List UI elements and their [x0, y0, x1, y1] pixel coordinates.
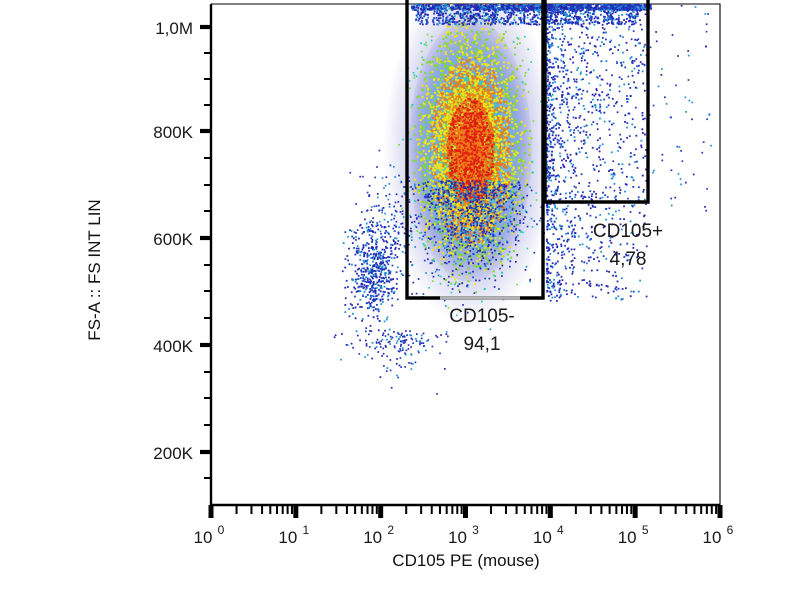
event-dot — [469, 86, 471, 88]
event-dot — [434, 153, 436, 155]
event-dot — [501, 82, 503, 84]
event-dot — [442, 143, 444, 145]
event-dot — [479, 97, 481, 99]
event-dot — [431, 129, 433, 131]
event-dot — [501, 41, 503, 43]
event-dot — [456, 150, 458, 152]
event-dot — [429, 161, 431, 163]
event-dot — [521, 133, 523, 135]
event-dot — [438, 91, 440, 93]
event-dot — [428, 136, 430, 138]
event-dot — [434, 110, 436, 112]
event-dot — [477, 85, 479, 87]
event-dot — [410, 106, 412, 108]
event-dot — [510, 179, 512, 181]
event-dot — [465, 50, 467, 52]
event-dot — [481, 57, 483, 59]
event-dot — [444, 166, 446, 168]
event-dot — [484, 219, 486, 221]
event-dot — [474, 283, 476, 285]
event-dot — [498, 61, 500, 63]
event-dot — [432, 189, 434, 191]
event-dot — [516, 174, 518, 176]
event-dot — [452, 93, 454, 95]
event-dot — [435, 145, 437, 147]
event-dot — [491, 185, 493, 187]
event-dot — [433, 151, 435, 153]
event-dot — [465, 101, 467, 103]
event-dot — [499, 93, 501, 95]
event-dot — [442, 70, 444, 72]
event-dot — [449, 147, 451, 149]
event-dot — [439, 175, 441, 177]
event-dot — [499, 178, 501, 180]
event-dot — [511, 118, 513, 120]
event-dot — [491, 139, 493, 141]
event-dot — [444, 141, 446, 143]
event-dot — [432, 167, 434, 169]
event-dot — [504, 93, 506, 95]
event-dot — [464, 244, 466, 246]
event-dot — [445, 136, 447, 138]
event-dot — [455, 76, 457, 78]
event-dot — [437, 94, 439, 96]
event-dot — [509, 115, 511, 117]
event-dot — [449, 134, 451, 136]
event-dot — [486, 110, 488, 112]
event-dot — [465, 112, 467, 114]
event-dot — [483, 270, 485, 272]
event-dot — [465, 108, 467, 110]
event-dot — [419, 138, 421, 140]
event-dot — [505, 199, 507, 201]
event-dot — [431, 136, 433, 138]
event-dot — [464, 220, 466, 222]
event-dot — [495, 230, 497, 232]
event-dot — [499, 34, 501, 36]
event-dot — [457, 224, 459, 226]
event-dot — [493, 89, 495, 91]
event-dot — [402, 139, 404, 141]
event-dot — [458, 269, 460, 271]
event-dot — [447, 240, 449, 242]
event-dot — [454, 156, 456, 158]
event-dot — [433, 112, 435, 114]
event-dot — [500, 211, 502, 213]
event-dot — [490, 159, 492, 161]
event-dot — [461, 110, 463, 112]
event-dot — [448, 125, 450, 127]
event-dot — [432, 280, 434, 282]
event-dot — [440, 149, 442, 151]
event-dot — [446, 44, 448, 46]
event-dot — [493, 59, 495, 61]
event-dot — [438, 105, 440, 107]
event-dot — [524, 152, 526, 154]
event-dot — [476, 131, 478, 133]
event-dot — [463, 204, 465, 206]
event-dot — [515, 171, 517, 173]
event-dot — [458, 57, 460, 59]
event-dot — [516, 100, 518, 102]
event-dot — [518, 123, 520, 125]
event-dot — [491, 156, 493, 158]
event-dot — [487, 235, 489, 237]
event-dot — [421, 64, 423, 66]
event-dot — [427, 158, 429, 160]
event-dot — [528, 91, 530, 93]
event-dot — [427, 223, 429, 225]
event-dot — [460, 249, 462, 251]
event-dot — [499, 169, 501, 171]
event-dot — [452, 95, 454, 97]
event-dot — [509, 106, 511, 108]
event-dot — [469, 109, 471, 111]
event-dot — [449, 79, 451, 81]
event-dot — [470, 118, 472, 120]
event-dot — [455, 74, 457, 76]
event-dot — [467, 25, 469, 27]
event-dot — [451, 146, 453, 148]
event-dot — [424, 245, 426, 247]
event-dot — [478, 117, 480, 119]
event-dot — [443, 101, 445, 103]
event-dot — [438, 116, 440, 118]
event-dot — [524, 75, 526, 77]
event-dot — [490, 122, 492, 124]
event-dot — [503, 33, 505, 35]
event-dot — [423, 159, 425, 161]
event-dot — [452, 86, 454, 88]
event-dot — [477, 73, 479, 75]
event-dot — [517, 141, 519, 143]
event-dot — [459, 256, 461, 258]
event-dot — [489, 149, 491, 151]
event-dot — [483, 146, 485, 148]
event-dot — [507, 161, 509, 163]
event-dot — [414, 178, 416, 180]
event-dot — [434, 85, 436, 87]
event-dot — [508, 91, 510, 93]
event-dot — [491, 145, 493, 147]
event-dot — [461, 136, 463, 138]
event-dot — [441, 108, 443, 110]
event-dot — [427, 187, 429, 189]
event-dot — [454, 278, 456, 280]
event-dot — [429, 165, 431, 167]
event-dot — [428, 203, 430, 205]
event-dot — [454, 283, 456, 285]
event-dot — [448, 104, 450, 106]
event-dot — [461, 51, 463, 53]
event-dot — [510, 162, 512, 164]
event-dot — [443, 126, 445, 128]
event-dot — [455, 235, 457, 237]
event-dot — [468, 57, 470, 59]
event-dot — [452, 208, 454, 210]
event-dot — [455, 281, 457, 283]
event-dot — [493, 85, 495, 87]
event-dot — [513, 166, 515, 168]
event-dot — [418, 182, 420, 184]
event-dot — [452, 171, 454, 173]
event-dot — [516, 125, 518, 127]
event-dot — [424, 167, 426, 169]
event-dot — [503, 154, 505, 156]
event-dot — [429, 223, 431, 225]
event-dot — [445, 53, 447, 55]
event-dot — [442, 35, 444, 37]
event-dot — [425, 85, 427, 87]
event-dot — [488, 95, 490, 97]
event-dot — [460, 107, 462, 109]
event-dot — [461, 58, 463, 60]
event-dot — [498, 136, 500, 138]
event-dot — [427, 34, 429, 36]
event-dot — [503, 61, 505, 63]
event-dot — [437, 119, 439, 121]
event-dot — [443, 185, 445, 187]
event-dot — [424, 174, 426, 176]
event-dot — [467, 223, 469, 225]
event-dot — [510, 126, 512, 128]
event-dot — [466, 131, 468, 133]
event-dot — [465, 94, 467, 96]
event-dot — [478, 121, 480, 123]
event-dot — [504, 176, 506, 178]
event-dot — [441, 174, 443, 176]
event-dot — [522, 81, 524, 83]
event-dot — [427, 145, 429, 147]
event-dot — [466, 59, 468, 61]
event-dot — [445, 32, 447, 34]
event-dot — [494, 161, 496, 163]
event-dot — [414, 125, 416, 127]
event-dot — [485, 28, 487, 30]
event-dot — [424, 142, 426, 144]
event-dot — [431, 208, 433, 210]
event-dot — [459, 96, 461, 98]
event-dot — [479, 35, 481, 37]
event-dot — [479, 233, 481, 235]
event-dot — [425, 163, 427, 165]
event-dot — [494, 83, 496, 85]
event-dot — [492, 92, 494, 94]
event-dot — [444, 65, 446, 67]
event-dot — [503, 159, 505, 161]
event-dot — [461, 263, 463, 265]
event-dot — [454, 36, 456, 38]
event-dot — [515, 95, 517, 97]
event-dot — [447, 169, 449, 171]
event-dot — [476, 49, 478, 51]
event-dot — [516, 128, 518, 130]
event-dot — [457, 213, 459, 215]
event-dot — [448, 69, 450, 71]
event-dot — [532, 172, 534, 174]
event-dot — [500, 138, 502, 140]
event-dot — [512, 75, 514, 77]
event-dot — [470, 176, 472, 178]
event-dot — [474, 57, 476, 59]
event-dot — [424, 72, 426, 74]
event-dot — [440, 211, 442, 213]
event-dot — [460, 68, 462, 70]
event-dot — [424, 79, 426, 81]
event-dot — [477, 193, 479, 195]
event-dot — [502, 118, 504, 120]
event-dot — [460, 204, 462, 206]
event-dot — [478, 76, 480, 78]
event-dot — [465, 138, 467, 140]
event-dot — [502, 174, 504, 176]
event-dot — [492, 111, 494, 113]
event-dot — [440, 60, 442, 62]
event-dot — [503, 95, 505, 97]
event-dot — [443, 84, 445, 86]
event-dot — [508, 188, 510, 190]
event-dot — [421, 159, 423, 161]
event-dot — [483, 156, 485, 158]
event-dot — [456, 204, 458, 206]
event-dot — [457, 32, 459, 34]
event-dot — [472, 112, 474, 114]
event-dot — [478, 161, 480, 163]
event-dot — [484, 288, 486, 290]
event-dot — [421, 88, 423, 90]
event-dot — [475, 127, 477, 129]
event-dot — [462, 76, 464, 78]
event-dot — [474, 87, 476, 89]
event-dot — [457, 119, 459, 121]
event-dot — [501, 121, 503, 123]
event-dot — [476, 44, 478, 46]
event-dot — [437, 98, 439, 100]
event-dot — [455, 209, 457, 211]
event-dot — [495, 109, 497, 111]
event-dot — [508, 62, 510, 64]
event-dot — [510, 257, 512, 259]
event-dot — [514, 17, 516, 19]
event-dot — [484, 70, 486, 72]
event-dot — [509, 246, 511, 248]
event-dot — [508, 143, 510, 145]
event-dot — [482, 113, 484, 115]
event-dot — [431, 217, 433, 219]
event-dot — [448, 8, 450, 10]
event-dot — [475, 140, 477, 142]
event-dot — [499, 81, 501, 83]
event-dot — [530, 61, 532, 63]
event-dot — [524, 131, 526, 133]
event-dot — [482, 117, 484, 119]
event-dot — [497, 38, 499, 40]
event-dot — [479, 59, 481, 61]
event-dot — [450, 292, 452, 294]
event-dot — [488, 261, 490, 263]
event-dot — [464, 46, 466, 48]
event-dot — [445, 279, 447, 281]
event-dot — [470, 71, 472, 73]
event-dot — [423, 243, 425, 245]
event-dot — [495, 167, 497, 169]
event-dot — [433, 146, 435, 148]
event-dot — [416, 230, 418, 232]
event-dot — [471, 75, 473, 77]
event-dot — [448, 140, 450, 142]
event-dot — [479, 101, 481, 103]
event-dot — [451, 157, 453, 159]
event-dot — [458, 274, 460, 276]
event-dot — [511, 150, 513, 152]
event-dot — [442, 252, 444, 254]
event-dot — [491, 171, 493, 173]
event-dot — [453, 110, 455, 112]
event-dot — [436, 160, 438, 162]
event-dot — [511, 172, 513, 174]
event-dot — [439, 130, 441, 132]
event-dot — [452, 108, 454, 110]
event-dot — [457, 51, 459, 53]
event-dot — [438, 165, 440, 167]
event-dot — [449, 26, 451, 28]
event-dot — [486, 257, 488, 259]
event-dot — [495, 180, 497, 182]
event-dot — [423, 59, 425, 61]
event-dot — [495, 72, 497, 74]
event-dot — [478, 255, 480, 257]
event-dot — [456, 148, 458, 150]
event-dot — [492, 97, 494, 99]
event-dot — [508, 176, 510, 178]
event-dot — [461, 134, 463, 136]
event-dot — [439, 141, 441, 143]
event-dot — [485, 119, 487, 121]
event-dot — [462, 94, 464, 96]
event-dot — [473, 102, 475, 104]
event-dot — [448, 156, 450, 158]
event-dot — [503, 166, 505, 168]
event-dot — [507, 172, 509, 174]
event-dot — [516, 204, 518, 206]
event-dot — [482, 124, 484, 126]
event-dot — [482, 45, 484, 47]
event-dot — [508, 158, 510, 160]
event-dot — [440, 133, 442, 135]
event-dot — [426, 143, 428, 145]
event-dot — [458, 205, 460, 207]
event-dot — [454, 15, 456, 17]
event-dot — [495, 111, 497, 113]
event-dot — [450, 252, 452, 254]
event-dot — [488, 140, 490, 142]
event-dot — [530, 137, 532, 139]
event-dot — [488, 253, 490, 255]
event-dot — [466, 27, 468, 29]
event-dot — [481, 75, 483, 77]
event-dot — [479, 169, 481, 171]
event-dot — [503, 147, 505, 149]
event-dot — [514, 142, 516, 144]
event-dot — [503, 80, 505, 82]
event-dot — [507, 258, 509, 260]
event-dot — [487, 119, 489, 121]
event-dot — [447, 162, 449, 164]
event-dot — [505, 155, 507, 157]
event-dot — [453, 101, 455, 103]
event-dot — [481, 63, 483, 65]
event-dot — [461, 96, 463, 98]
